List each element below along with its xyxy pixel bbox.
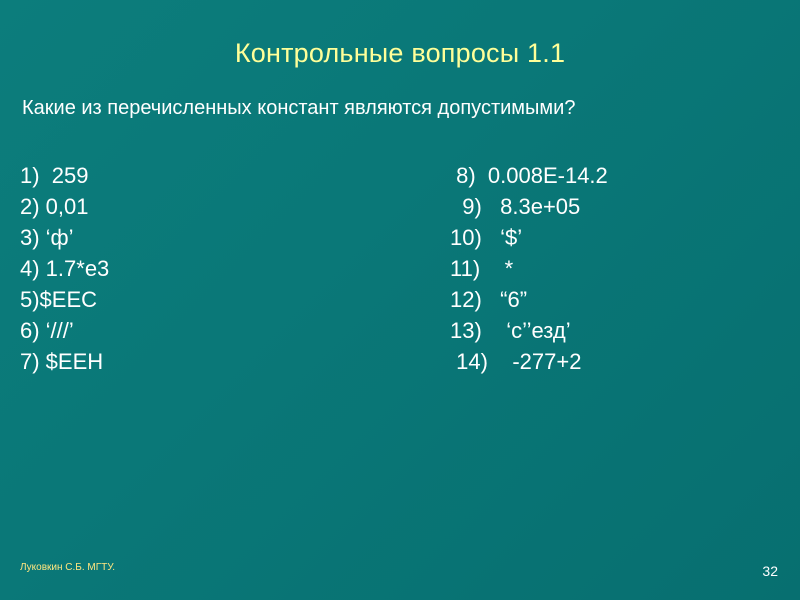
answers-left-column: 1) 259 2) 0,01 3) ‘ф’ 4) 1.7*e3 5)$EEC 6…: [20, 160, 109, 377]
list-item: 9) 8.3e+05: [450, 191, 608, 222]
page-title: Контрольные вопросы 1.1: [0, 38, 800, 69]
list-item: 12) “6”: [450, 284, 608, 315]
list-item: 6) ‘///’: [20, 315, 109, 346]
list-item: 3) ‘ф’: [20, 222, 109, 253]
list-item: 7) $EEH: [20, 346, 109, 377]
list-item: 14) -277+2: [450, 346, 608, 377]
footer-author: Луковкин С.Б. МГТУ.: [20, 562, 115, 573]
list-item: 5)$EEC: [20, 284, 109, 315]
list-item: 8) 0.008E-14.2: [450, 160, 608, 191]
list-item: 1) 259: [20, 160, 109, 191]
slide-canvas: Контрольные вопросы 1.1 Какие из перечис…: [0, 0, 800, 600]
answers-right-column: 8) 0.008E-14.2 9) 8.3e+05 10) ‘$’ 11) * …: [450, 160, 608, 377]
list-item: 2) 0,01: [20, 191, 109, 222]
list-item: 13) ‘с’’езд’: [450, 315, 608, 346]
question-text: Какие из перечисленных констант являются…: [22, 97, 575, 120]
list-item: 11) *: [450, 253, 608, 284]
list-item: 10) ‘$’: [450, 222, 608, 253]
page-number: 32: [762, 563, 778, 579]
list-item: 4) 1.7*e3: [20, 253, 109, 284]
